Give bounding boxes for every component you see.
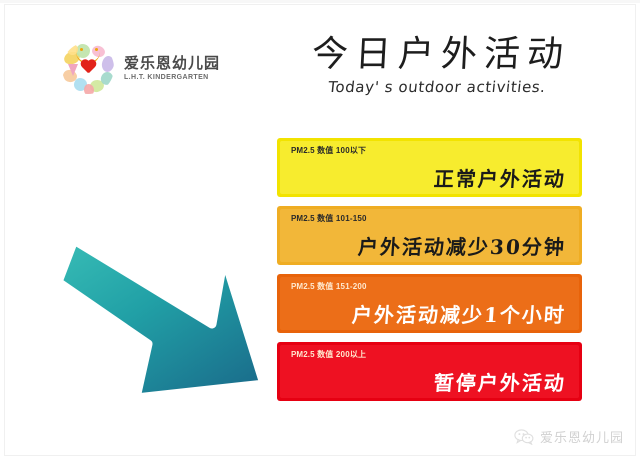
pm25-range: 100以下 <box>336 146 366 155</box>
table-row: PM2.5 数值 151-200 户外活动减少1个小时 <box>277 274 582 333</box>
pm25-metric: 数值 <box>317 214 333 223</box>
down-right-arrow-icon <box>52 212 287 402</box>
pm25-metric: 数值 <box>317 146 333 155</box>
pm25-metric: 数值 <box>317 282 333 291</box>
pm25-prefix: PM2.5 <box>291 214 315 223</box>
pm25-metric: 数值 <box>317 350 333 359</box>
table-row: PM2.5 数值 200以上 暂停户外活动 <box>277 342 582 401</box>
pm25-range-label: PM2.5 数值 100以下 <box>291 145 366 156</box>
wechat-account-name: 爱乐恩幼儿园 <box>540 427 624 446</box>
page-title-en: Today' s outdoor activities. <box>311 78 563 96</box>
kindergarten-collage-logo-icon <box>62 42 114 94</box>
heart-icon <box>80 60 97 76</box>
pm25-action-text: 暂停户外活动 <box>277 367 567 396</box>
page-title-cn: 今日户外活动 <box>311 36 563 74</box>
pm25-range: 101-150 <box>336 214 367 223</box>
pm25-action-text: 户外活动减少1个小时 <box>277 299 567 328</box>
table-row: PM2.5 数值 101-150 户外活动减少30分钟 <box>277 206 582 265</box>
brand-logo-text: 爱乐恩幼儿园 L.H.T. KINDERGARTEN <box>124 56 220 81</box>
top-hairline <box>0 0 640 3</box>
brand-name-cn: 爱乐恩幼儿园 <box>124 56 220 71</box>
pm25-range-label: PM2.5 数值 151-200 <box>291 281 367 292</box>
pm25-range: 200以上 <box>336 350 366 359</box>
pm25-prefix: PM2.5 <box>291 282 315 291</box>
pm25-prefix: PM2.5 <box>291 146 315 155</box>
wechat-icon <box>514 429 534 445</box>
page-title: 今日户外活动 Today' s outdoor activities. <box>312 36 562 96</box>
pm25-prefix: PM2.5 <box>291 350 315 359</box>
wechat-account-footer: 爱乐恩幼儿园 <box>514 427 624 446</box>
pm25-level-list: PM2.5 数值 100以下 正常户外活动 PM2.5 数值 101-150 户… <box>277 138 582 410</box>
poster-canvas: 爱乐恩幼儿园 L.H.T. KINDERGARTEN 今日户外活动 Today'… <box>0 0 640 460</box>
pm25-action-text: 户外活动减少30分钟 <box>277 231 567 260</box>
pm25-action-text: 正常户外活动 <box>277 163 567 192</box>
pm25-range: 151-200 <box>336 282 367 291</box>
brand-name-en: L.H.T. KINDERGARTEN <box>124 74 220 81</box>
table-row: PM2.5 数值 100以下 正常户外活动 <box>277 138 582 197</box>
pm25-range-label: PM2.5 数值 200以上 <box>291 349 366 360</box>
brand-logo: 爱乐恩幼儿园 L.H.T. KINDERGARTEN <box>62 42 220 94</box>
pm25-range-label: PM2.5 数值 101-150 <box>291 213 367 224</box>
